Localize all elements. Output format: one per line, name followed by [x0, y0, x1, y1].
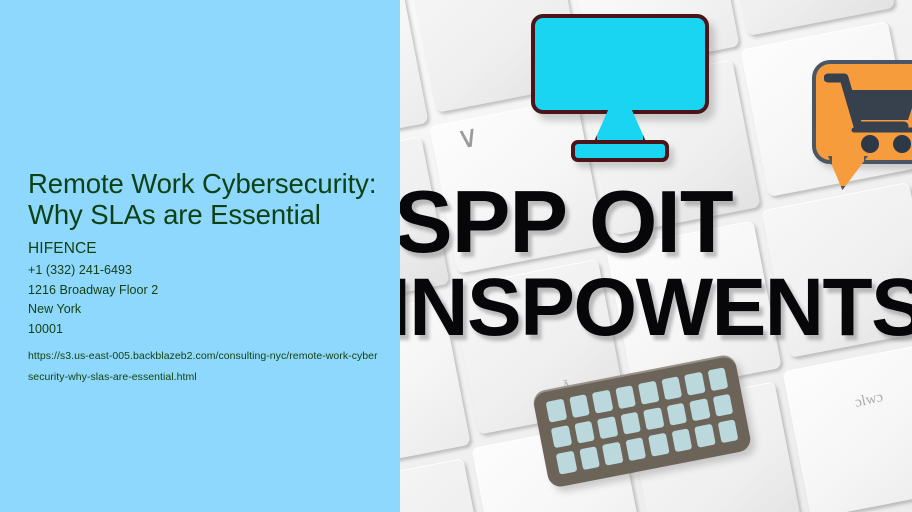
shopping-cart-icon	[824, 72, 912, 156]
keyboard-icon-key	[574, 420, 595, 444]
keyboard-icon-key	[643, 407, 664, 431]
keyboard-icon-key	[689, 398, 710, 422]
keyboard-icon-key	[717, 420, 738, 444]
keyboard-icon-key	[615, 385, 636, 409]
keyboard-icon-key	[546, 399, 567, 423]
page-root: ∨ ‖‖ ⎵ ɔlwɔ Ā Жʄ	[0, 0, 912, 512]
keyboard-icon-key	[712, 393, 733, 417]
desktop-monitor-icon	[531, 14, 709, 164]
keyboard-icon-key	[684, 372, 705, 396]
hero-image-panel: ∨ ‖‖ ⎵ ɔlwɔ Ā Жʄ	[400, 0, 912, 512]
keyboard-icon-key	[625, 438, 646, 462]
info-panel: Remote Work Cybersecurity: Why SLAs are …	[0, 0, 400, 512]
keyboard-icon-key	[592, 390, 613, 414]
page-title: Remote Work Cybersecurity: Why SLAs are …	[28, 168, 400, 230]
keyboard-icon-key	[671, 429, 692, 453]
keyboard-icon-key	[666, 402, 687, 426]
keyboard-icon-key	[569, 394, 590, 418]
hero-overlay-text-line-1: SPP OIT	[400, 176, 906, 268]
keyboard-icon-key	[597, 416, 618, 440]
phone-number: +1 (332) 241-6493	[28, 261, 400, 281]
shopping-cart-bubble-icon	[812, 60, 912, 182]
keyboard-key	[782, 343, 912, 512]
keyboard-icon-key	[579, 447, 600, 471]
postal-code: 10001	[28, 320, 400, 340]
source-url[interactable]: https://s3.us-east-005.backblazeb2.com/c…	[28, 346, 378, 388]
keyboard-icon-key	[620, 411, 641, 435]
keyboard-icon-key	[556, 451, 577, 475]
keyboard-icon-key	[694, 424, 715, 448]
organization-name: HIFENCE	[28, 238, 400, 259]
keyboard-icon-key	[602, 442, 623, 466]
keyboard-icon-key	[638, 381, 659, 405]
monitor-base	[571, 140, 669, 162]
keyboard-icon-key	[551, 425, 572, 449]
keyboard-icon-key	[648, 433, 669, 457]
info-content: Remote Work Cybersecurity: Why SLAs are …	[28, 168, 400, 388]
city-name: New York	[28, 300, 400, 320]
monitor-screen	[531, 14, 709, 114]
monitor-neck	[593, 110, 647, 144]
hero-overlay-text-line-2: INSPOWENTS	[400, 265, 900, 351]
keyboard-icon-key	[707, 367, 728, 391]
street-address: 1216 Broadway Floor 2	[28, 281, 400, 301]
keyboard-icon-key	[661, 376, 682, 400]
